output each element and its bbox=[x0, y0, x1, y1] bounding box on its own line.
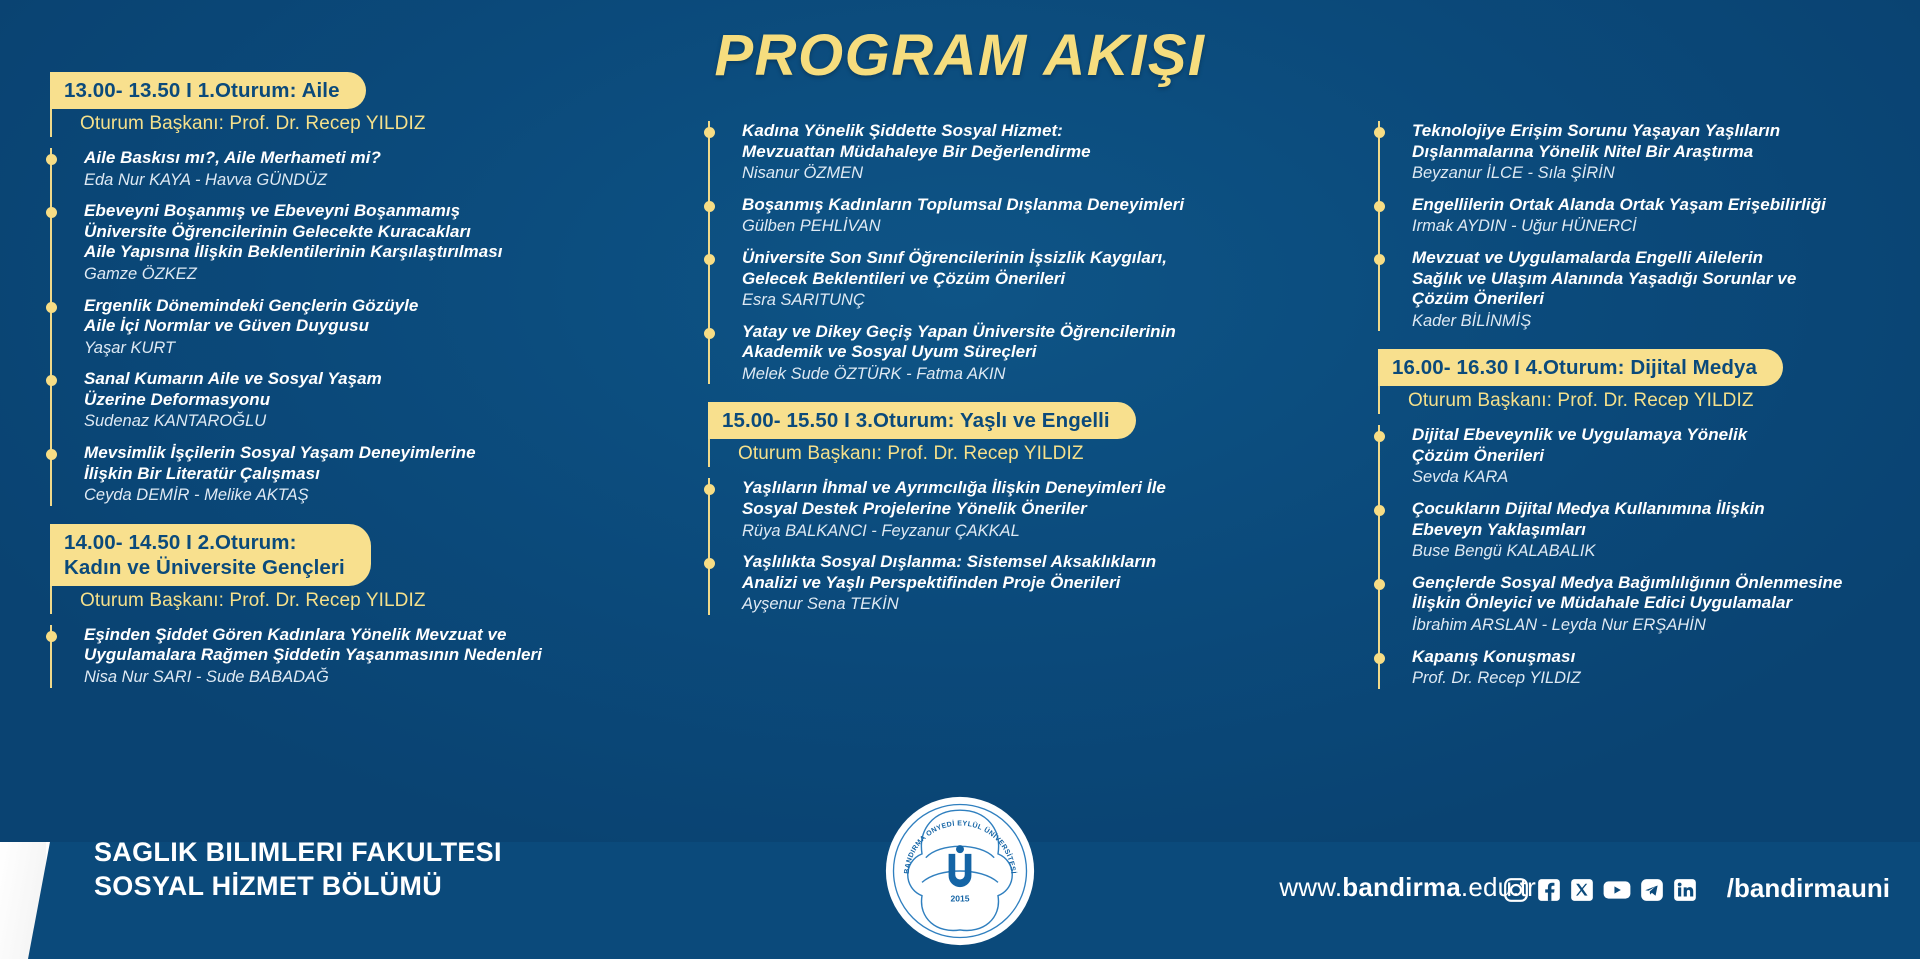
program-item-authors: Ceyda DEMİR - Melike AKTAŞ bbox=[84, 485, 552, 506]
session-banner-4: 16.00- 16.30 I 4.Oturum: Dijital Medya bbox=[1378, 349, 1783, 386]
program-item-authors: Kader BİLİNMİŞ bbox=[1412, 311, 1890, 332]
session-items-track: Teknolojiye Erişim Sorunu Yaşayan Yaşlıl… bbox=[1378, 121, 1890, 331]
program-item-authors: Irmak AYDIN - Uğur HÜNERCİ bbox=[1412, 216, 1890, 237]
university-seal: BANDIRMA ONYEDİ EYLÜL ÜNİVERSİTESİ 2015 bbox=[884, 795, 1036, 947]
program-item: Mevzuat ve Uygulamalarda Engelli Aileler… bbox=[1394, 248, 1890, 331]
youtube-icon[interactable] bbox=[1602, 877, 1632, 903]
session-banner-2: 14.00- 14.50 I 2.Oturum: Kadın ve Üniver… bbox=[50, 524, 371, 586]
program-item-title: Dijital Ebeveynlik ve Uygulamaya Yönelik… bbox=[1412, 425, 1890, 466]
program-item: Eşinden Şiddet Gören Kadınlara Yönelik M… bbox=[66, 625, 552, 688]
facebook-icon[interactable] bbox=[1536, 877, 1562, 903]
program-item: Mevsimlik İşçilerin Sosyal Yaşam Deneyim… bbox=[66, 443, 552, 506]
program-item-authors: Gamze ÖZKEZ bbox=[84, 264, 552, 285]
program-item: Yaşlıların İhmal ve Ayrımcılığa İlişkin … bbox=[724, 478, 1220, 541]
program-item: Yaşlılıkta Sosyal Dışlanma: Sistemsel Ak… bbox=[724, 552, 1220, 615]
column-right: Teknolojiye Erişim Sorunu Yaşayan Yaşlıl… bbox=[1370, 110, 1890, 689]
faculty-title: SAĞLIK BİLİMLERİ FAKÜLTESİ SOSYAL HİZMET… bbox=[94, 835, 502, 904]
session-chair-track: Oturum Başkanı: Prof. Dr. Recep YILDIZ bbox=[50, 109, 552, 137]
x-twitter-icon[interactable] bbox=[1569, 877, 1595, 903]
program-item-authors: Prof. Dr. Recep YILDIZ bbox=[1412, 668, 1890, 689]
program-item-authors: Buse Bengü KALABALIK bbox=[1412, 541, 1890, 562]
column-left: 13.00- 13.50 I 1.Oturum: AileOturum Başk… bbox=[42, 72, 552, 688]
program-item-authors: Esra SARITUNÇ bbox=[742, 290, 1220, 311]
program-item: Ebeveyni Boşanmış ve Ebeveyni Boşanmamış… bbox=[66, 201, 552, 284]
program-item-title: Engellilerin Ortak Alanda Ortak Yaşam Er… bbox=[1412, 195, 1890, 216]
website-brand: bandirma bbox=[1342, 872, 1461, 902]
social-handle[interactable]: /bandirmauni bbox=[1727, 873, 1890, 904]
session-items-track: Dijital Ebeveynlik ve Uygulamaya Yönelik… bbox=[1378, 425, 1890, 688]
program-item-title: Ergenlik Dönemindeki Gençlerin Gözüyle A… bbox=[84, 296, 552, 337]
program-item-title: Ebeveyni Boşanmış ve Ebeveyni Boşanmamış… bbox=[84, 201, 552, 263]
program-item-authors: Ayşenur Sena TEKİN bbox=[742, 594, 1220, 615]
program-item-title: Sanal Kumarın Aile ve Sosyal Yaşam Üzeri… bbox=[84, 369, 552, 410]
session-banner-1: 13.00- 13.50 I 1.Oturum: Aile bbox=[50, 72, 366, 109]
program-item-authors: Sudenaz KANTAROĞLU bbox=[84, 411, 552, 432]
program-item-title: Çocukların Dijital Medya Kullanımına İli… bbox=[1412, 499, 1890, 540]
program-item: Aile Baskısı mı?, Aile Merhameti mi?Eda … bbox=[66, 148, 552, 190]
program-item-title: Kapanış Konuşması bbox=[1412, 647, 1890, 668]
program-item-title: Mevsimlik İşçilerin Sosyal Yaşam Deneyim… bbox=[84, 443, 552, 484]
poster-canvas: PROGRAM AKIŞI 13.00- 13.50 I 1.Oturum: A… bbox=[0, 0, 1920, 959]
column-middle: Kadına Yönelik Şiddette Sosyal Hizmet: M… bbox=[700, 110, 1220, 615]
faculty-line-2: SOSYAL HİZMET BÖLÜMÜ bbox=[94, 869, 502, 904]
program-item-title: Aile Baskısı mı?, Aile Merhameti mi? bbox=[84, 148, 552, 169]
svg-text:2015: 2015 bbox=[950, 893, 969, 903]
session-items-track: Kadına Yönelik Şiddette Sosyal Hizmet: M… bbox=[708, 121, 1220, 384]
program-item-title: Gençlerde Sosyal Medya Bağımlılığının Ön… bbox=[1412, 573, 1890, 614]
session-banner-3: 15.00- 15.50 I 3.Oturum: Yaşlı ve Engell… bbox=[708, 402, 1136, 439]
social-icons bbox=[1503, 877, 1698, 903]
program-item: Ergenlik Dönemindeki Gençlerin Gözüyle A… bbox=[66, 296, 552, 359]
session-chair-track: Oturum Başkanı: Prof. Dr. Recep YILDIZ bbox=[708, 439, 1220, 467]
session-chair-1: Oturum Başkanı: Prof. Dr. Recep YILDIZ bbox=[66, 109, 552, 137]
program-item-authors: Nisanur ÖZMEN bbox=[742, 163, 1220, 184]
program-item-authors: Rüya BALKANCI - Feyzanur ÇAKKAL bbox=[742, 521, 1220, 542]
website-url[interactable]: www.bandirma.edu.tr bbox=[1279, 872, 1536, 903]
session-chair-track: Oturum Başkanı: Prof. Dr. Recep YILDIZ bbox=[1378, 386, 1890, 414]
program-item-authors: Sevda KARA bbox=[1412, 467, 1890, 488]
linkedin-icon[interactable] bbox=[1672, 877, 1698, 903]
telegram-icon[interactable] bbox=[1639, 877, 1665, 903]
session-banner-wrap: 15.00- 15.50 I 3.Oturum: Yaşlı ve Engell… bbox=[708, 402, 1220, 439]
website-prefix: www. bbox=[1279, 872, 1342, 902]
session-banner-wrap: 16.00- 16.30 I 4.Oturum: Dijital Medya bbox=[1378, 349, 1890, 386]
session-chair-2: Oturum Başkanı: Prof. Dr. Recep YILDIZ bbox=[66, 586, 552, 614]
program-item: Sanal Kumarın Aile ve Sosyal Yaşam Üzeri… bbox=[66, 369, 552, 432]
program-item-title: Kadına Yönelik Şiddette Sosyal Hizmet: M… bbox=[742, 121, 1220, 162]
program-item: Yatay ve Dikey Geçiş Yapan Üniversite Öğ… bbox=[724, 322, 1220, 385]
program-item-title: Eşinden Şiddet Gören Kadınlara Yönelik M… bbox=[84, 625, 552, 666]
program-item: Üniversite Son Sınıf Öğrencilerinin İşsi… bbox=[724, 248, 1220, 311]
program-item: Gençlerde Sosyal Medya Bağımlılığının Ön… bbox=[1394, 573, 1890, 636]
session-chair-3: Oturum Başkanı: Prof. Dr. Recep YILDIZ bbox=[724, 439, 1220, 467]
program-item-authors: İbrahim ARSLAN - Leyda Nur ERŞAHİN bbox=[1412, 615, 1890, 636]
session-items-track: Yaşlıların İhmal ve Ayrımcılığa İlişkin … bbox=[708, 478, 1220, 615]
program-item-authors: Melek Sude ÖZTÜRK - Fatma AKIN bbox=[742, 364, 1220, 385]
session-items-track: Aile Baskısı mı?, Aile Merhameti mi?Eda … bbox=[50, 148, 552, 506]
program-item-title: Teknolojiye Erişim Sorunu Yaşayan Yaşlıl… bbox=[1412, 121, 1890, 162]
program-item-title: Yaşlıların İhmal ve Ayrımcılığa İlişkin … bbox=[742, 478, 1220, 519]
program-item-title: Yatay ve Dikey Geçiş Yapan Üniversite Öğ… bbox=[742, 322, 1220, 363]
program-item: Engellilerin Ortak Alanda Ortak Yaşam Er… bbox=[1394, 195, 1890, 237]
session-items-track: Eşinden Şiddet Gören Kadınlara Yönelik M… bbox=[50, 625, 552, 688]
instagram-icon[interactable] bbox=[1503, 877, 1529, 903]
program-item-title: Yaşlılıkta Sosyal Dışlanma: Sistemsel Ak… bbox=[742, 552, 1220, 593]
program-item-title: Üniversite Son Sınıf Öğrencilerinin İşsi… bbox=[742, 248, 1220, 289]
program-item-authors: Beyzanur İLCE - Sıla ŞİRİN bbox=[1412, 163, 1890, 184]
program-item: Çocukların Dijital Medya Kullanımına İli… bbox=[1394, 499, 1890, 562]
program-item: Kadına Yönelik Şiddette Sosyal Hizmet: M… bbox=[724, 121, 1220, 184]
session-banner-wrap: 13.00- 13.50 I 1.Oturum: Aile bbox=[50, 72, 552, 109]
program-item-authors: Gülben PEHLİVAN bbox=[742, 216, 1220, 237]
program-item-authors: Yaşar KURT bbox=[84, 338, 552, 359]
program-item-title: Boşanmış Kadınların Toplumsal Dışlanma D… bbox=[742, 195, 1220, 216]
program-item-authors: Eda Nur KAYA - Havva GÜNDÜZ bbox=[84, 170, 552, 191]
program-item: Dijital Ebeveynlik ve Uygulamaya Yönelik… bbox=[1394, 425, 1890, 488]
program-item: Teknolojiye Erişim Sorunu Yaşayan Yaşlıl… bbox=[1394, 121, 1890, 184]
program-item: Kapanış KonuşmasıProf. Dr. Recep YILDIZ bbox=[1394, 647, 1890, 689]
session-banner-wrap: 14.00- 14.50 I 2.Oturum: Kadın ve Üniver… bbox=[50, 524, 552, 586]
program-item: Boşanmış Kadınların Toplumsal Dışlanma D… bbox=[724, 195, 1220, 237]
session-chair-4: Oturum Başkanı: Prof. Dr. Recep YILDIZ bbox=[1394, 386, 1890, 414]
program-item-title: Mevzuat ve Uygulamalarda Engelli Aileler… bbox=[1412, 248, 1890, 310]
session-chair-track: Oturum Başkanı: Prof. Dr. Recep YILDIZ bbox=[50, 586, 552, 614]
program-item-authors: Nisa Nur SARI - Sude BABADAĞ bbox=[84, 667, 552, 688]
